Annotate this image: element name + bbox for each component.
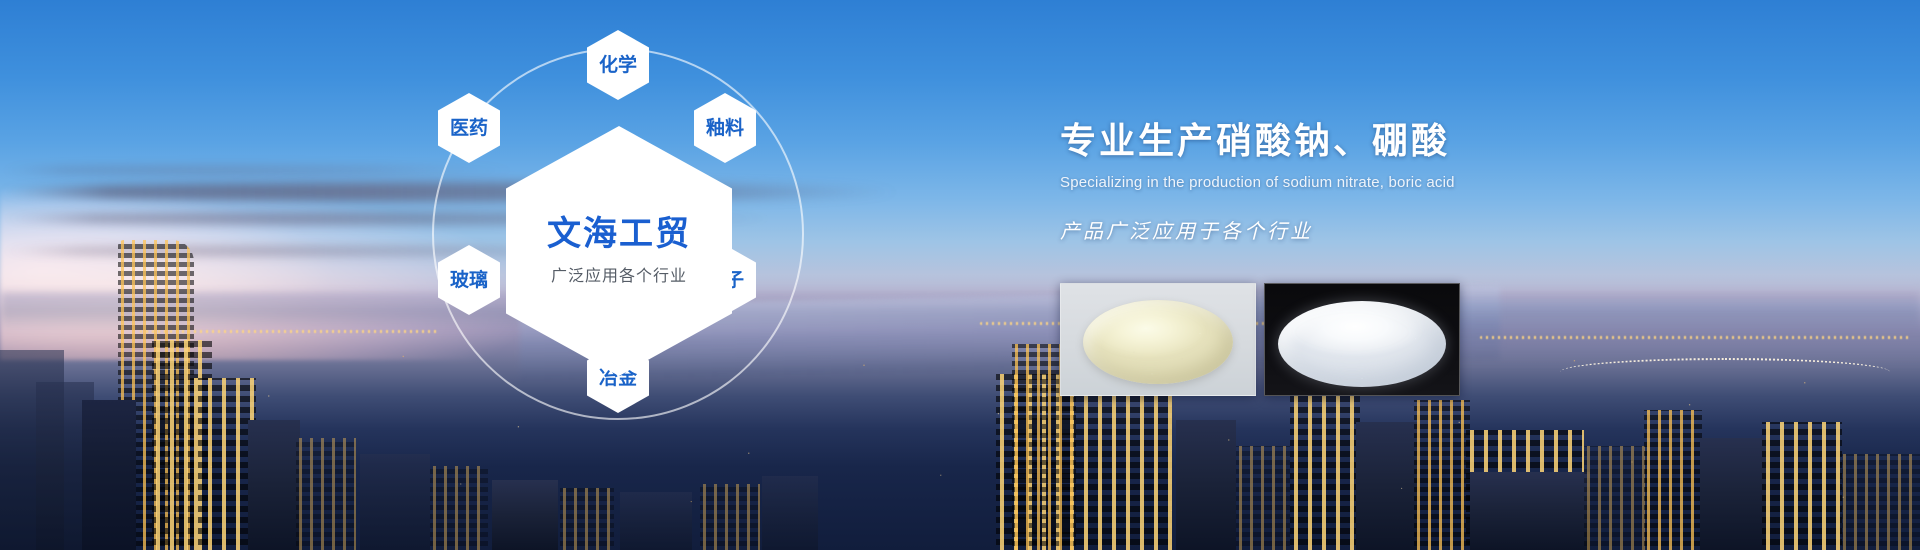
building xyxy=(248,420,300,550)
city-skyline xyxy=(0,0,1920,550)
building xyxy=(1414,400,1470,550)
product-photo-strip xyxy=(1060,283,1460,396)
building xyxy=(1840,454,1920,550)
building xyxy=(1176,420,1236,550)
product-photo-sodium-nitrate[interactable] xyxy=(1060,283,1256,396)
building xyxy=(620,492,692,550)
building xyxy=(360,454,430,550)
building xyxy=(1236,446,1290,550)
building xyxy=(492,480,558,550)
powder-pile xyxy=(1278,301,1446,387)
hex-node-label: 医药 xyxy=(450,119,488,138)
powder-grain-texture xyxy=(1278,301,1446,387)
industry-hexagon-diagram: 化学 釉料 电子 冶金 玻璃 医药 文海工贸 广泛应用各个行业 xyxy=(432,48,804,420)
building xyxy=(1700,438,1766,550)
company-name: 文海工贸 xyxy=(547,216,691,253)
shoreline-lights xyxy=(1480,336,1910,339)
headline-english: Specializing in the production of sodium… xyxy=(1060,173,1820,193)
building xyxy=(762,476,818,550)
building xyxy=(82,400,136,550)
building xyxy=(1470,472,1590,550)
hex-node-label: 玻璃 xyxy=(450,271,488,290)
powder-pile xyxy=(1083,300,1233,384)
hex-node-label: 釉料 xyxy=(706,119,744,138)
building xyxy=(1356,422,1418,550)
bridge-lights xyxy=(1560,352,1890,378)
promo-banner: 化学 釉料 电子 冶金 玻璃 医药 文海工贸 广泛应用各个行业 专业生产硝酸钠、… xyxy=(0,0,1920,550)
bridge-cable xyxy=(1560,358,1890,372)
headline-chinese: 专业生产硝酸钠、硼酸 xyxy=(1060,120,1820,162)
company-tagline: 广泛应用各个行业 xyxy=(551,262,687,286)
product-photo-boric-acid[interactable] xyxy=(1264,283,1460,396)
powder-grain-texture xyxy=(1083,300,1233,384)
building xyxy=(1290,394,1360,550)
hex-node-label: 化学 xyxy=(599,56,637,75)
building-tower xyxy=(1644,410,1702,550)
slogan-chinese: 产品广泛应用于各个行业 xyxy=(1060,215,1820,244)
building xyxy=(1762,422,1842,550)
building xyxy=(560,488,614,550)
building xyxy=(700,484,760,550)
headline-block: 专业生产硝酸钠、硼酸 Specializing in the productio… xyxy=(1060,120,1820,244)
building xyxy=(190,378,256,550)
building xyxy=(1584,446,1648,550)
building xyxy=(296,438,356,550)
building xyxy=(430,466,488,550)
